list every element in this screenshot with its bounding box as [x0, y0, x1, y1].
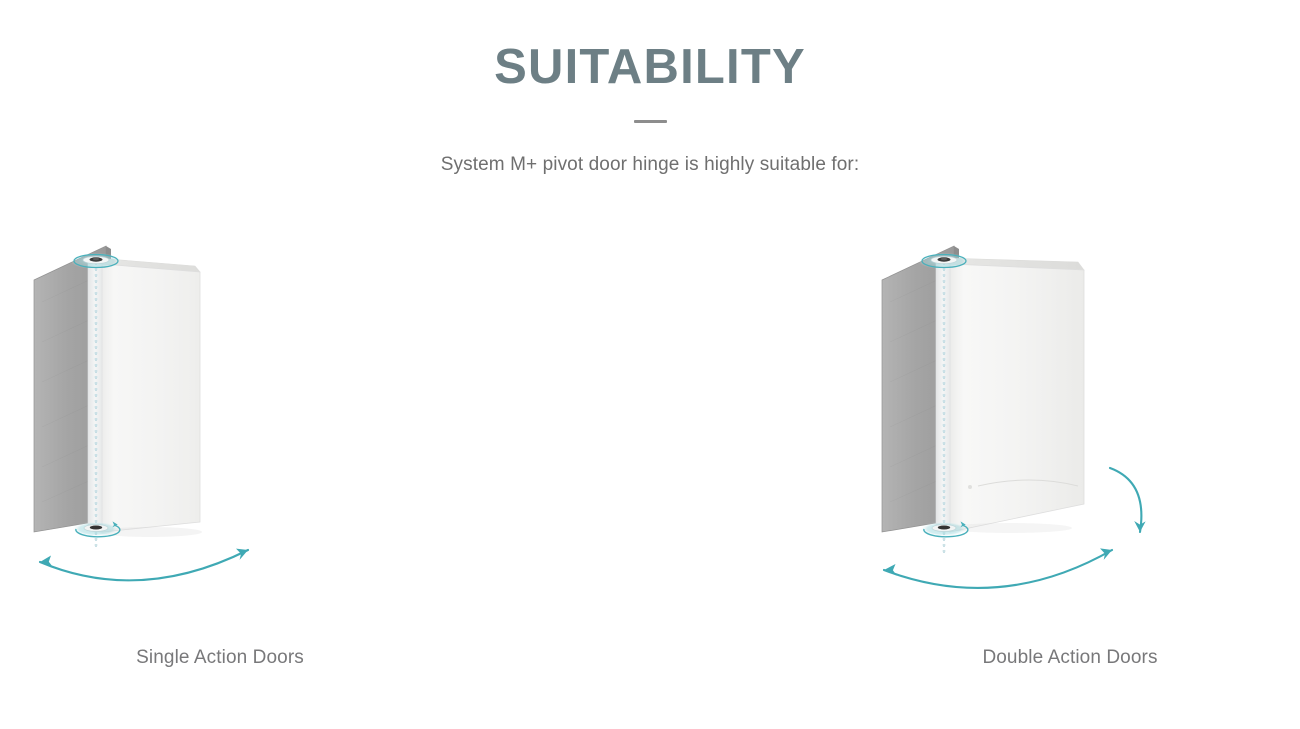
door-panel [936, 258, 1084, 533]
swing-arc-arrow [884, 548, 1112, 588]
top-hinge-cap [70, 253, 122, 269]
door-panel [88, 258, 202, 537]
single-action-illustration [10, 232, 430, 632]
figures-row: Single Action Doors [0, 232, 1300, 702]
title-divider [634, 120, 667, 123]
page-header: SUITABILITY System M+ pivot door hinge i… [0, 0, 1300, 176]
figure-caption-single-action: Single Action Doors [10, 647, 430, 669]
bottom-hinge-cap [920, 521, 968, 536]
top-hinge-cap [918, 253, 970, 269]
bottom-hinge-cap [72, 521, 120, 536]
page-title: SUITABILITY [0, 42, 1300, 93]
page-subtitle: System M+ pivot door hinge is highly sui… [0, 154, 1300, 176]
figure-caption-double-action: Double Action Doors [860, 647, 1280, 669]
swing-arc-arrow [40, 549, 248, 581]
suitability-page: SUITABILITY System M+ pivot door hinge i… [0, 0, 1300, 729]
figure-single-action: Single Action Doors [10, 232, 430, 702]
return-swing-arrow [1110, 468, 1146, 532]
figure-double-action: Double Action Doors [860, 232, 1280, 702]
double-action-illustration [860, 232, 1280, 632]
